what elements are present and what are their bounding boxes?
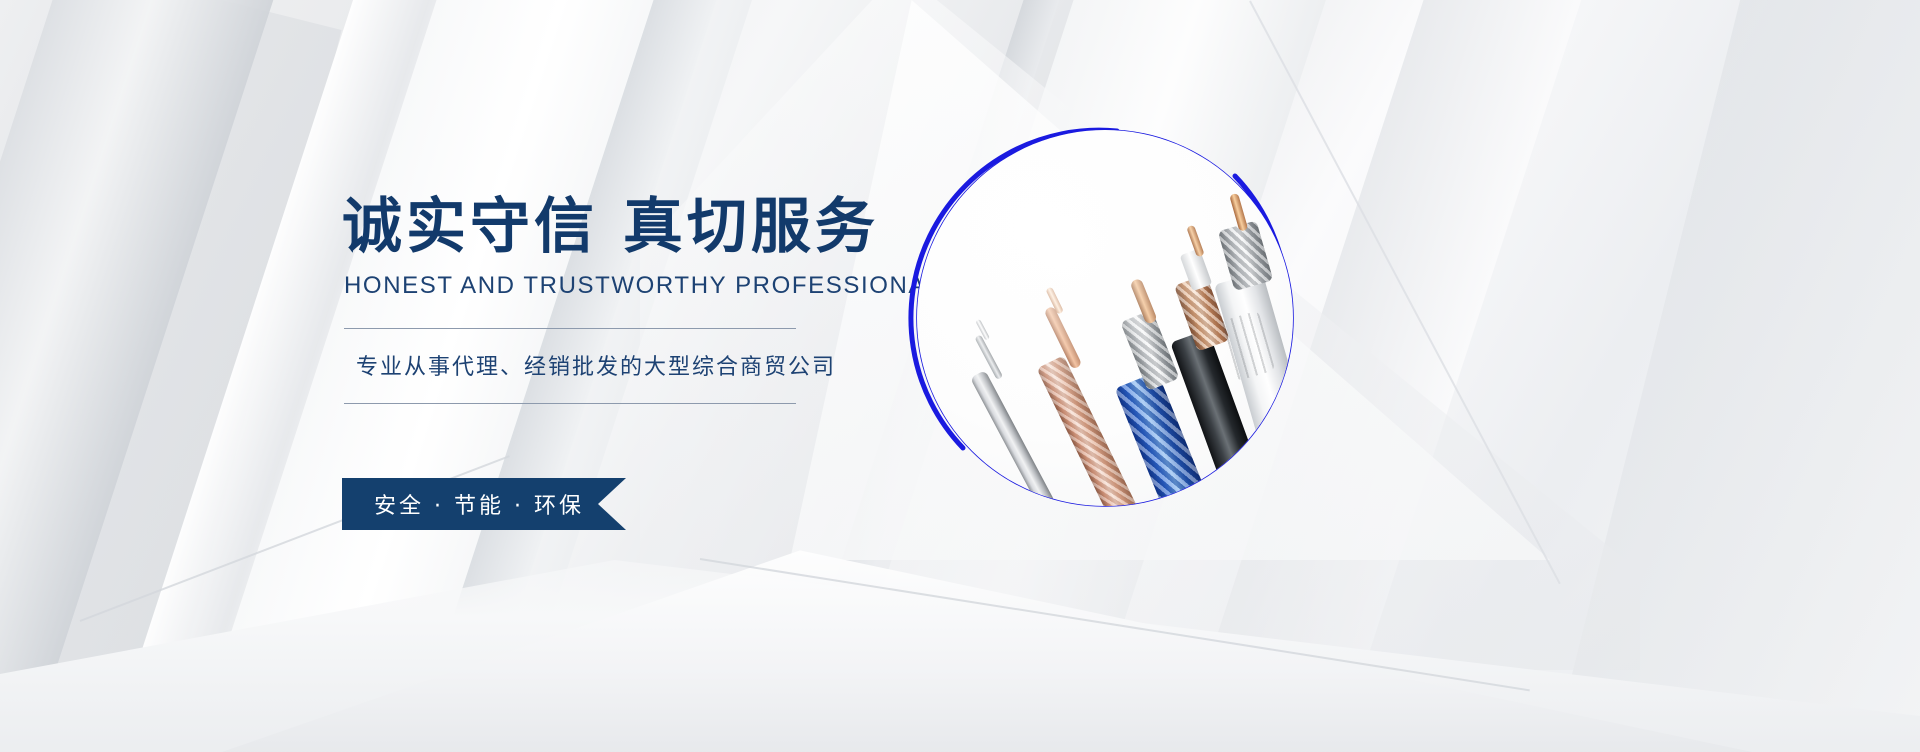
divider-top [344,328,796,329]
subtitle-chinese: 专业从事代理、经销批发的大型综合商贸公司 [356,349,962,381]
page-title: 诚实守信 真切服务 [342,196,962,260]
divider-bottom [344,403,796,404]
status-badge-label: 安全 · 节能 · 环保 [374,488,584,520]
cable-photo [917,130,1293,506]
cable-copper-braid [1037,355,1138,506]
subtitle-english: HONEST AND TRUSTWORTHY PROFESSIONAL SERV… [344,272,962,300]
hero-text-block: 诚实守信 真切服务 HONEST AND TRUSTWORTHY PROFESS… [342,196,962,404]
status-badge: 安全 · 节能 · 环保 [342,478,598,530]
cable-white-core [1229,193,1248,232]
hero-banner: 诚实守信 真切服务 HONEST AND TRUSTWORTHY PROFESS… [0,0,1920,752]
product-circle-graphic [905,118,1305,518]
status-badge-arrow [598,478,626,530]
